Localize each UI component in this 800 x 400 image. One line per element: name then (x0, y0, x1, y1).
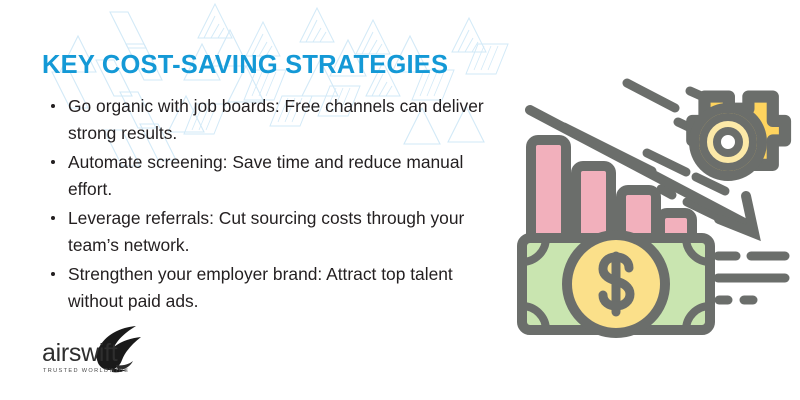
gear-icon (692, 97, 785, 176)
list-item-text: Strengthen your employer brand: Attract … (68, 264, 453, 312)
page-title: KEY COST-SAVING STRATEGIES (42, 52, 512, 79)
list-item-text: Automate screening: Save time and reduce… (68, 152, 463, 200)
bullet-dot-icon (51, 216, 55, 220)
bullet-dot-icon (51, 104, 55, 108)
list-item: Leverage referrals: Cut sourcing costs t… (42, 205, 512, 260)
slide-canvas: KEY COST-SAVING STRATEGIES Go organic wi… (0, 0, 800, 400)
logo-wordmark: airswift (42, 339, 118, 367)
logo-tagline: TRUSTED WORLDWIDE (43, 368, 129, 374)
list-item-text: Go organic with job boards: Free channel… (68, 96, 484, 144)
list-item: Automate screening: Save time and reduce… (42, 149, 512, 204)
bullet-dot-icon (51, 272, 55, 276)
dollar-coin-icon (567, 235, 665, 333)
list-item: Go organic with job boards: Free channel… (42, 93, 512, 148)
airswift-logo: airswift TRUSTED WORLDWIDE (40, 325, 170, 377)
text-column: KEY COST-SAVING STRATEGIES Go organic wi… (42, 52, 512, 317)
cost-saving-illustration (500, 50, 800, 350)
list-item: Strengthen your employer brand: Attract … (42, 261, 512, 316)
bullet-dot-icon (51, 160, 55, 164)
lower-dashes-icon (718, 256, 785, 300)
list-item-text: Leverage referrals: Cut sourcing costs t… (68, 208, 464, 256)
strategy-bullet-list: Go organic with job boards: Free channel… (42, 93, 512, 316)
